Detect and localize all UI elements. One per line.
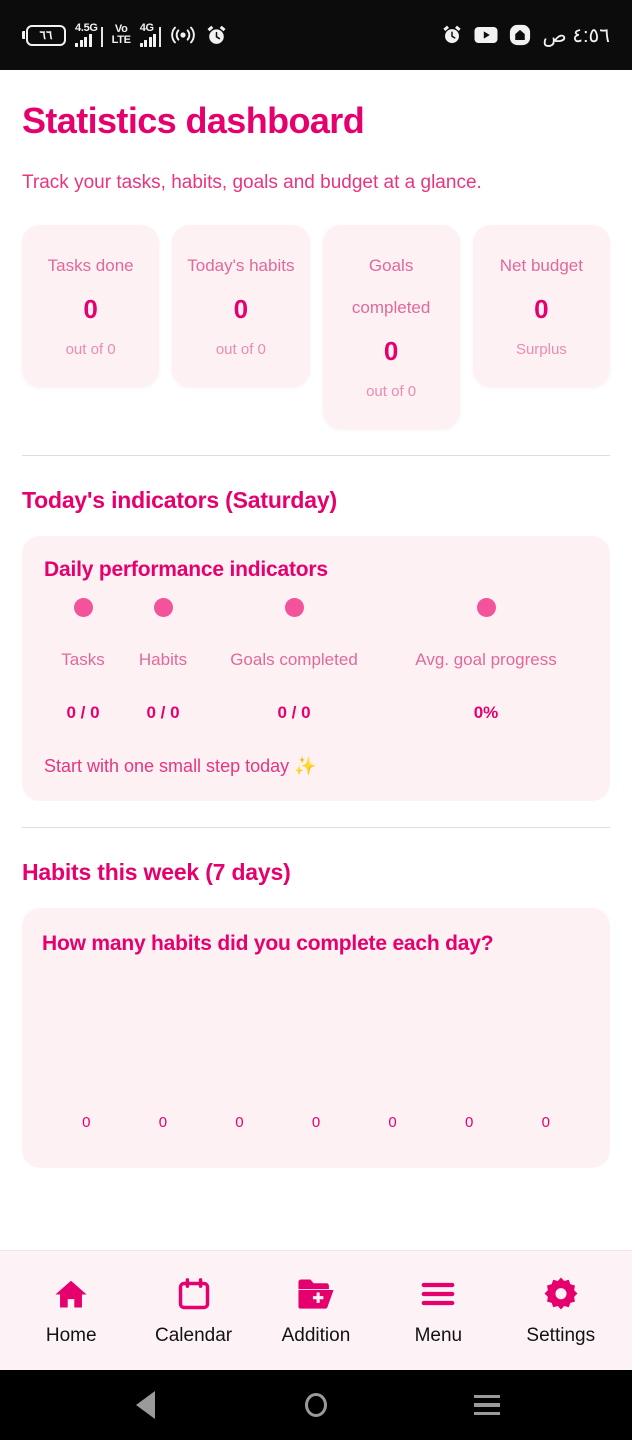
chart-bar-label: 0 [465, 1110, 473, 1136]
calendar-icon [176, 1274, 212, 1314]
nav-item-settings[interactable]: Settings [505, 1274, 617, 1347]
nav-item-home[interactable]: Home [15, 1274, 127, 1347]
section-title-habits: Habits this week (7 days) [22, 859, 610, 886]
stat-card-value: 0 [182, 287, 299, 331]
recents-button[interactable] [457, 1395, 517, 1416]
panel-title: Daily performance indicators [44, 558, 588, 582]
chart-bar-label: 0 [82, 1110, 90, 1136]
nav-item-menu[interactable]: Menu [382, 1274, 494, 1347]
home-icon [52, 1274, 90, 1314]
main-content: Statistics dashboard Track your tasks, h… [0, 70, 632, 1250]
alarm-icon [205, 24, 228, 47]
network-type-2-label: 4G [140, 23, 154, 34]
stat-card-value: 0 [333, 329, 450, 373]
gear-icon [542, 1274, 580, 1314]
android-navigation-bar [0, 1370, 632, 1440]
stat-card-value: 0 [32, 287, 149, 331]
indicator-dot-icon [477, 598, 496, 617]
home-button[interactable] [286, 1393, 346, 1417]
stat-card-label: Today's habits [182, 245, 299, 287]
phone-screen: ٦٦ 4.5G Vo LTE 4G [0, 0, 632, 1440]
chart-bar-group: 0 [48, 986, 125, 1136]
indicator-dot-icon [154, 598, 173, 617]
battery-icon: ٦٦ [22, 25, 66, 46]
chart-bar-label: 0 [235, 1110, 243, 1136]
indicator-value: 0 / 0 [122, 694, 204, 732]
signal-1-icon: 4.5G [75, 23, 103, 47]
chart-bar-label: 0 [159, 1110, 167, 1136]
clock-label: ٤:٥٦ ص [542, 23, 610, 48]
daily-indicators-panel: Daily performance indicators Tasks Habit… [22, 536, 610, 801]
status-bar-left: ٦٦ 4.5G Vo LTE 4G [22, 23, 228, 47]
indicator-dot-icon [285, 598, 304, 617]
folder-plus-icon [296, 1274, 336, 1314]
chart-bar-group: 0 [507, 986, 584, 1136]
stat-card-sub: Surplus [483, 331, 600, 369]
page-subtitle: Track your tasks, habits, goals and budg… [22, 162, 552, 203]
stat-card-label: Net budget [483, 245, 600, 287]
indicator-name: Habits [122, 642, 204, 678]
back-button[interactable] [115, 1391, 175, 1419]
app-icon [509, 24, 531, 46]
chart-bar-group: 0 [278, 986, 355, 1136]
stat-card-sub: out of 0 [32, 331, 149, 369]
alarm-icon [441, 24, 463, 46]
chart-bar-label: 0 [388, 1110, 396, 1136]
hamburger-icon [419, 1274, 457, 1314]
chart-bar-label: 0 [542, 1110, 550, 1136]
indicator-dot-icon [74, 598, 93, 617]
nav-label: Settings [526, 1325, 595, 1347]
indicator-name: Tasks [44, 642, 122, 678]
chart-bar-label: 0 [312, 1110, 320, 1136]
stat-card-label: Goals completed [333, 245, 450, 329]
indicator-value: 0 / 0 [44, 694, 122, 732]
status-bar-right: ٤:٥٦ ص [441, 23, 610, 48]
youtube-icon [474, 26, 498, 44]
indicator-values-row: 0 / 0 0 / 0 0 / 0 0% [44, 694, 588, 732]
chart-bar-group: 0 [201, 986, 278, 1136]
nav-label: Menu [415, 1325, 463, 1347]
status-bar: ٦٦ 4.5G Vo LTE 4G [0, 0, 632, 70]
habits-chart-card: How many habits did you complete each da… [22, 908, 610, 1168]
stat-card-net-budget[interactable]: Net budget 0 Surplus [473, 225, 610, 387]
stat-card-label: Tasks done [32, 245, 149, 287]
nav-item-addition[interactable]: Addition [260, 1274, 372, 1347]
stat-card-tasks-done[interactable]: Tasks done 0 out of 0 [22, 225, 159, 387]
indicator-value: 0% [384, 694, 588, 732]
page-title: Statistics dashboard [22, 100, 610, 142]
stat-card-sub: out of 0 [182, 331, 299, 369]
volte-icon: Vo LTE [112, 24, 131, 46]
habits-bar-chart: 0 0 0 0 0 [42, 986, 590, 1136]
indicator-dots-row [44, 598, 588, 626]
network-type-1-label: 4.5G [75, 23, 98, 34]
nav-label: Home [46, 1325, 97, 1347]
stat-card-todays-habits[interactable]: Today's habits 0 out of 0 [172, 225, 309, 387]
stat-card-sub: out of 0 [333, 373, 450, 411]
bottom-navigation-bar: Home Calendar Addition [0, 1250, 632, 1370]
nav-label: Calendar [155, 1325, 232, 1347]
nav-label: Addition [282, 1325, 351, 1347]
nav-item-calendar[interactable]: Calendar [138, 1274, 250, 1347]
chart-bar-group: 0 [354, 986, 431, 1136]
section-title-indicators: Today's indicators (Saturday) [22, 487, 610, 514]
indicator-name: Goals completed [204, 642, 384, 678]
signal-2-icon: 4G [140, 23, 162, 47]
indicator-value: 0 / 0 [204, 694, 384, 732]
hotspot-icon [170, 24, 196, 46]
section-divider [22, 827, 610, 828]
indicator-name: Avg. goal progress [384, 642, 588, 678]
section-divider [22, 455, 610, 456]
stat-card-goals-completed[interactable]: Goals completed 0 out of 0 [323, 225, 460, 429]
stat-card-value: 0 [483, 287, 600, 331]
battery-level-label: ٦٦ [26, 25, 66, 46]
motivation-note: Start with one small step today ✨ [44, 756, 588, 777]
indicator-names-row: Tasks Habits Goals completed Avg. goal p… [44, 642, 588, 678]
chart-bar-group: 0 [431, 986, 508, 1136]
chart-bar-group: 0 [125, 986, 202, 1136]
stat-cards-row: Tasks done 0 out of 0 Today's habits 0 o… [22, 225, 610, 429]
chart-title: How many habits did you complete each da… [42, 932, 590, 956]
